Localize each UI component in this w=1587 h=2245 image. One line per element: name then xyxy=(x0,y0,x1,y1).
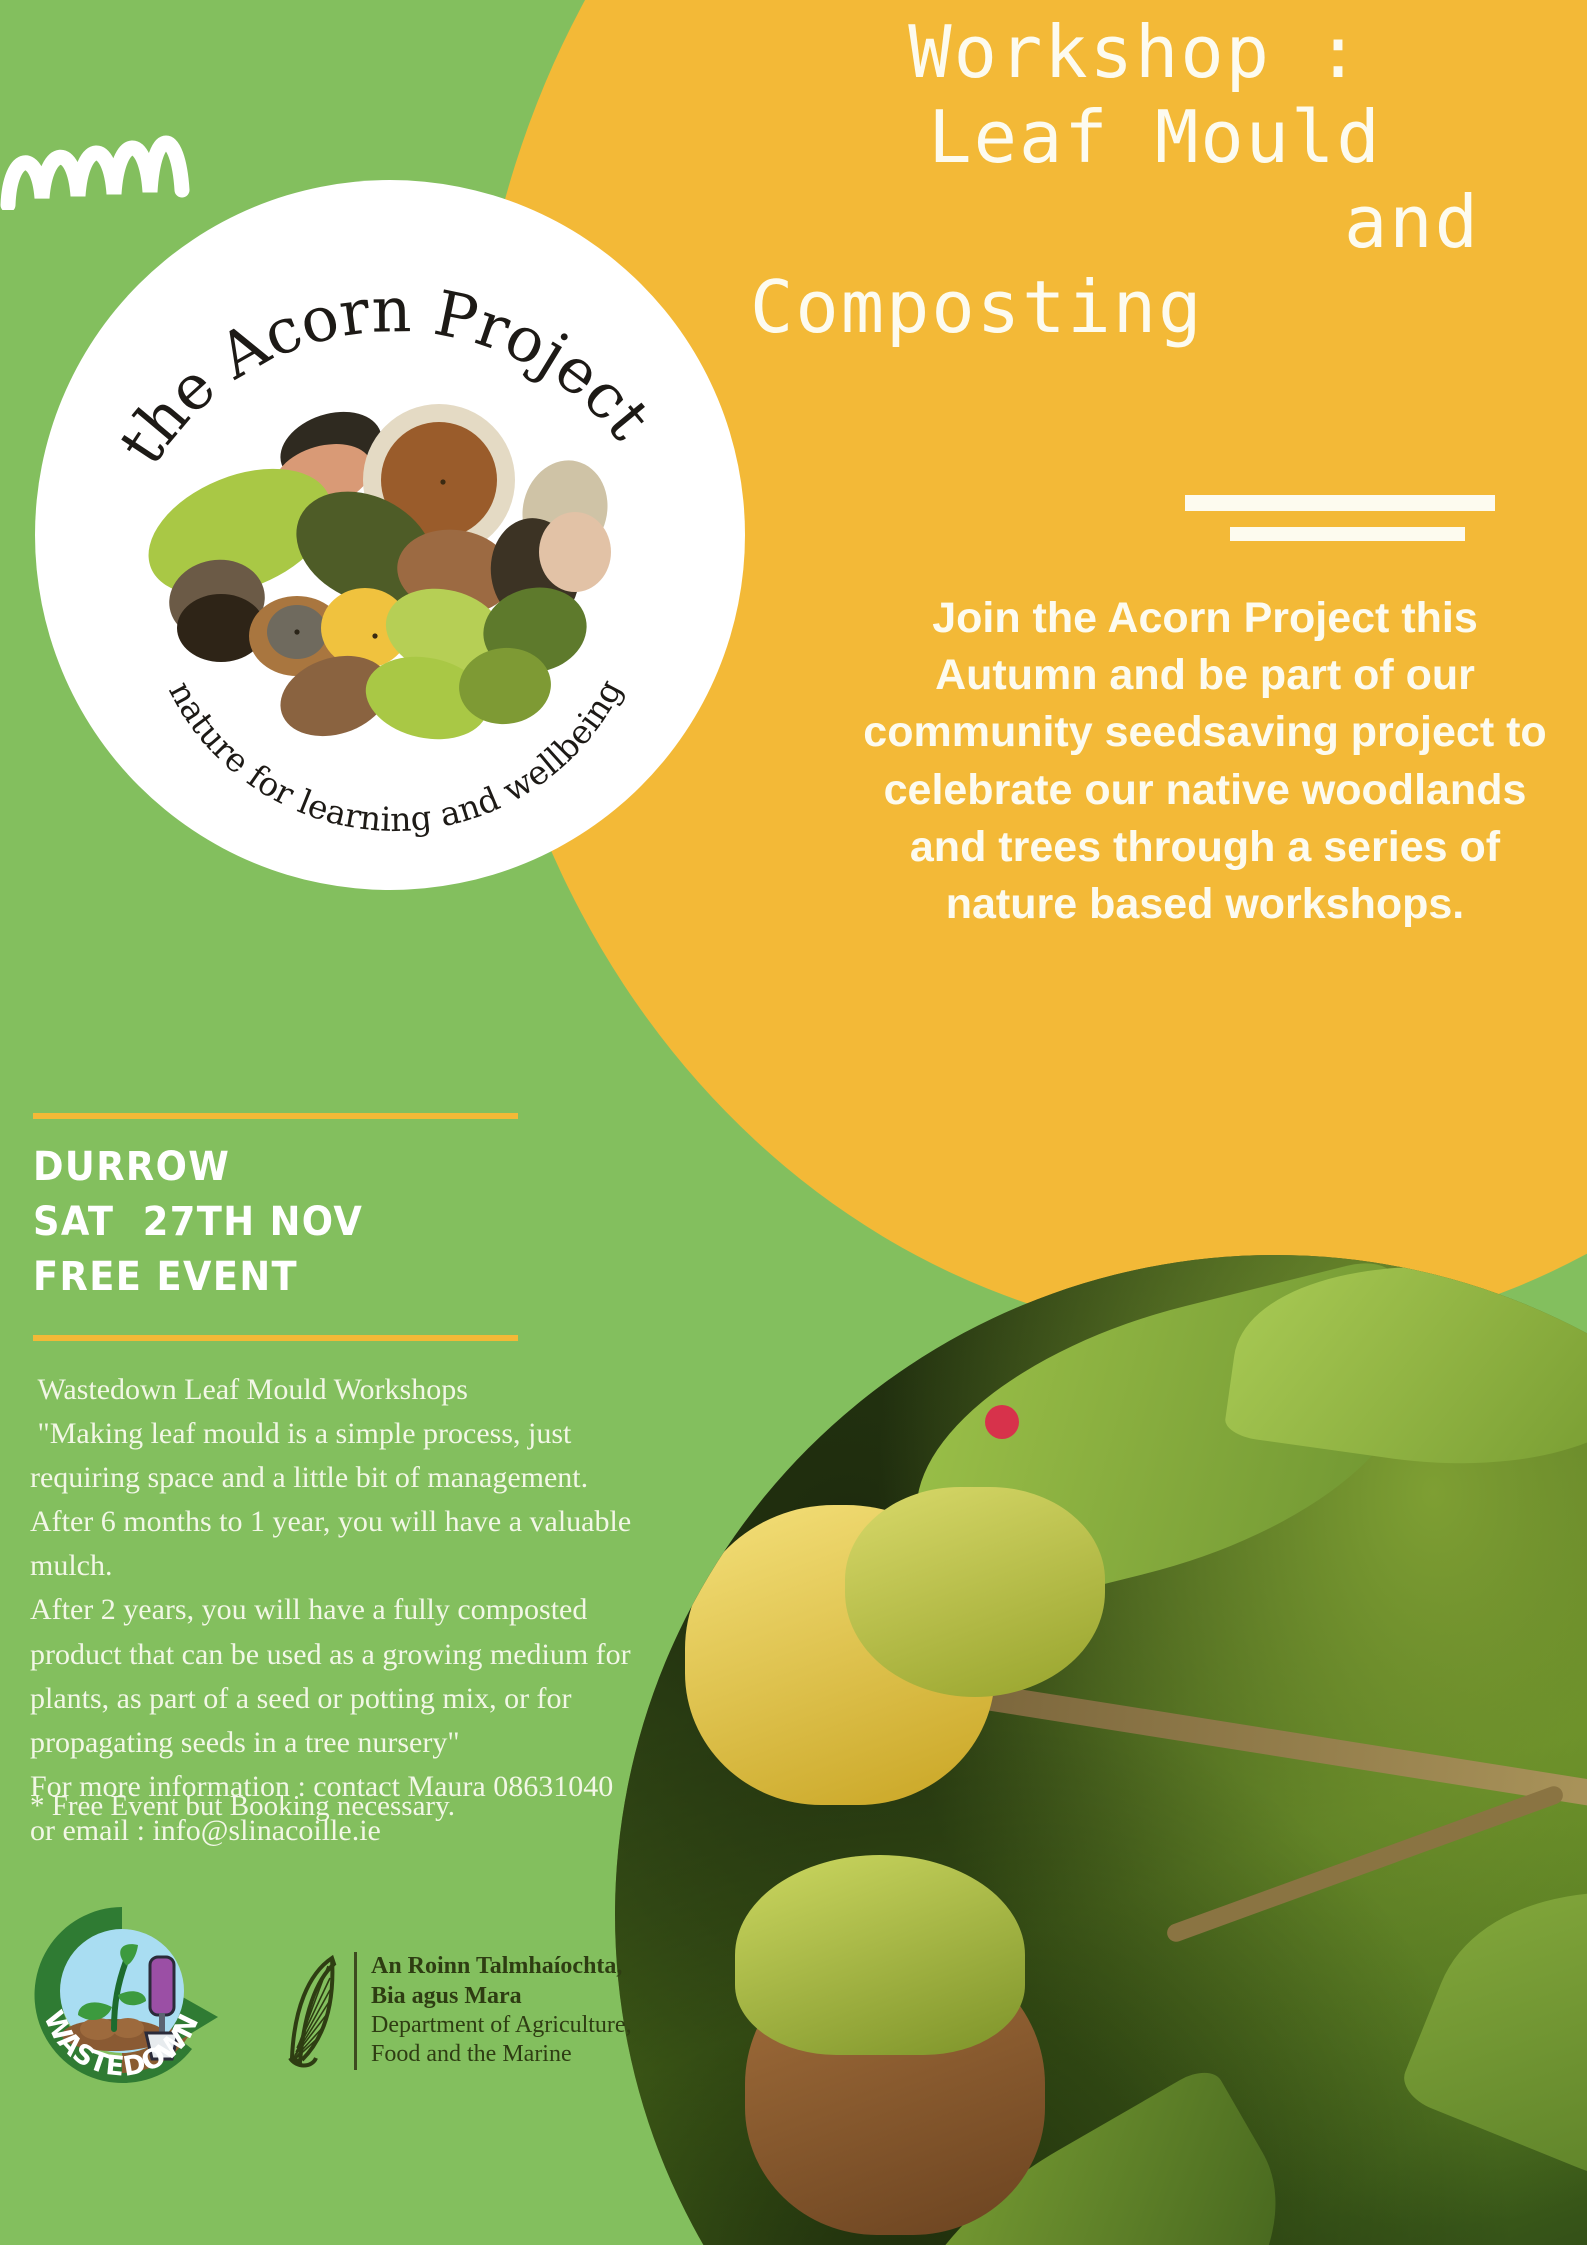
dept-irish-line-2: Bia agus Mara xyxy=(371,1982,632,2011)
event-location: DURROW xyxy=(33,1140,603,1195)
dept-irish-line-1: An Roinn Talmhaíochta, xyxy=(371,1952,632,1981)
divider-bar-top xyxy=(1185,495,1495,511)
event-date: SAT 27TH NOV xyxy=(33,1195,603,1250)
dept-english-line-1: Department of Agriculture, xyxy=(371,2011,632,2040)
logo-divider xyxy=(354,1952,357,2070)
department-of-agriculture-logo: An Roinn Talmhaíochta, Bia agus Mara Dep… xyxy=(282,1952,632,2070)
description-line-1: "Making leaf mould is a simple process, … xyxy=(30,1412,670,1500)
event-rule-top xyxy=(33,1113,518,1119)
intro-paragraph: Join the Acorn Project this Autumn and b… xyxy=(855,590,1555,933)
event-rule-bottom xyxy=(33,1335,518,1341)
divider-bar-bottom xyxy=(1230,527,1465,541)
irish-harp-icon xyxy=(282,1952,340,2070)
poster-title: Workshop : Leaf Mould and Composting xyxy=(730,10,1540,350)
description-heading: Wastedown Leaf Mould Workshops xyxy=(30,1368,670,1412)
booking-note: * Free Event but Booking necessary. xyxy=(30,1790,670,1823)
event-price: FREE EVENT xyxy=(33,1250,603,1305)
title-line-2: Leaf Mould xyxy=(730,95,1540,180)
description-line-3: After 2 years, you will have a fully com… xyxy=(30,1588,670,1764)
waste-down-logo: WASTE DOWN xyxy=(22,1895,222,2095)
title-line-3: and xyxy=(730,180,1540,265)
workshop-description: Wastedown Leaf Mould Workshops "Making l… xyxy=(30,1368,670,1853)
title-divider xyxy=(1185,495,1505,541)
poster-canvas: the Acorn Project nature for learning an… xyxy=(0,0,1587,2245)
description-line-2: After 6 months to 1 year, you will have … xyxy=(30,1500,670,1588)
title-line-4: Composting xyxy=(730,265,1540,350)
squiggle-decoration xyxy=(0,100,270,210)
title-line-1: Workshop : xyxy=(730,10,1540,95)
acorn-photograph xyxy=(615,1255,1587,2245)
event-details: DURROW SAT 27TH NOV FREE EVENT xyxy=(33,1140,603,1306)
acorn-project-logo: the Acorn Project nature for learning an… xyxy=(35,180,745,890)
dept-english-line-2: Food and the Marine xyxy=(371,2040,632,2069)
